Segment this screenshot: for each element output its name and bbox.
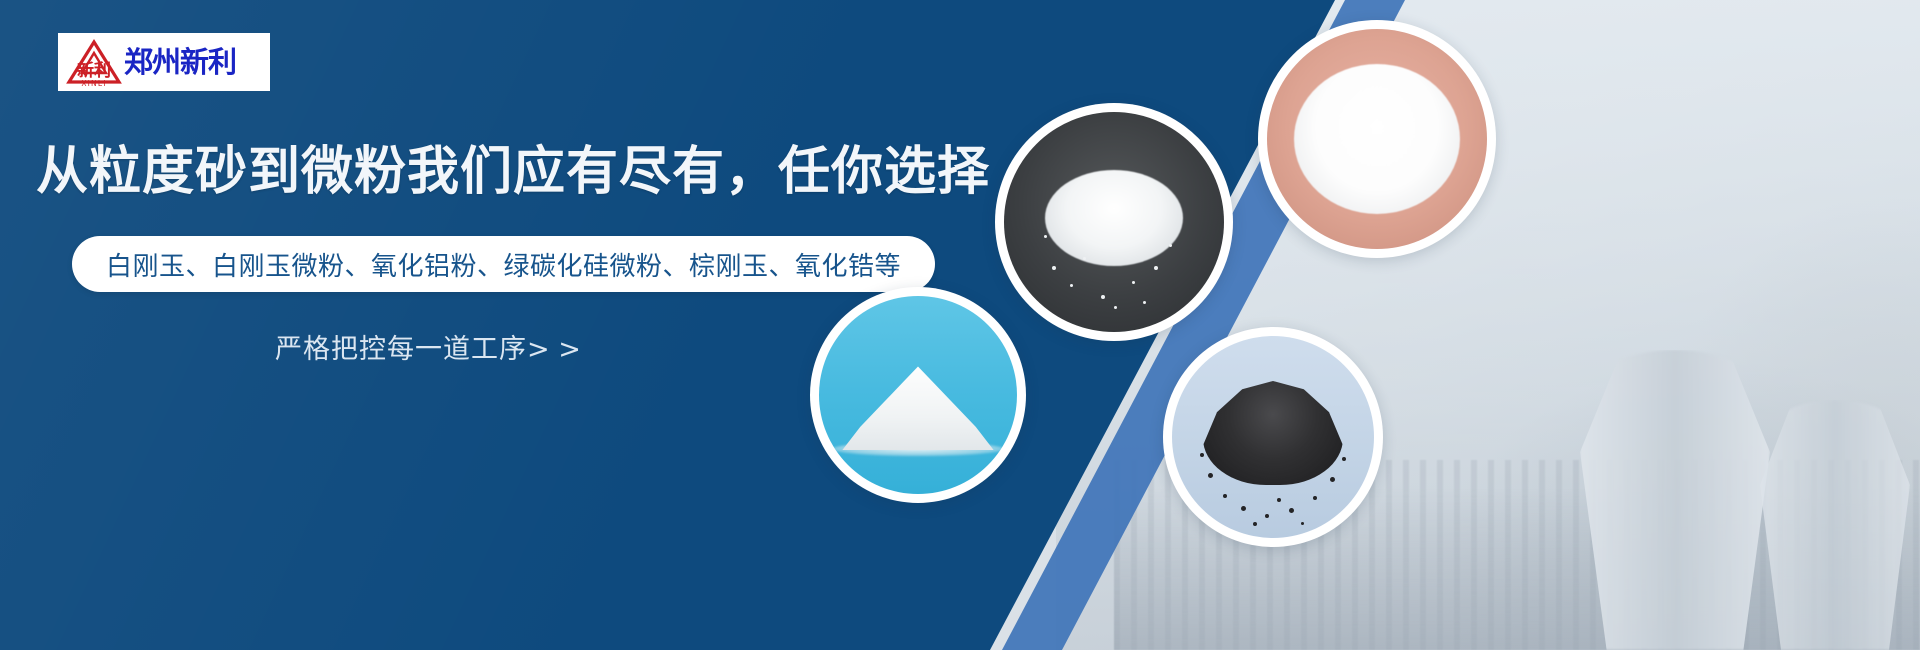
- subtitle[interactable]: 严格把控每一道工序> >: [275, 327, 581, 366]
- product-photo-image: [1004, 112, 1224, 332]
- powder-heap: [1294, 64, 1460, 214]
- product-photo-image: [1267, 29, 1487, 249]
- xinli-triangle-icon: 新利 XINLI: [66, 36, 122, 88]
- subtitle-text: 严格把控每一道工序: [275, 334, 527, 365]
- product-photo-black-grit[interactable]: [1163, 327, 1383, 547]
- cooling-tower-icon: [1760, 400, 1910, 650]
- promo-banner: 新利 XINLI 郑州新利 从粒度砂到微粉我们应有尽有，任你选择 白刚玉、白刚玉…: [0, 0, 1920, 650]
- product-list-pill[interactable]: 白刚玉、白刚玉微粉、氧化铝粉、绿碳化硅微粉、棕刚玉、氧化锆等: [72, 236, 935, 292]
- product-photo-image: [1172, 336, 1374, 538]
- powder-cone: [842, 366, 994, 450]
- company-logo[interactable]: 新利 XINLI 郑州新利: [58, 33, 270, 91]
- headline: 从粒度砂到微粉我们应有尽有，任你选择: [36, 143, 990, 201]
- svg-text:XINLI: XINLI: [81, 79, 106, 88]
- svg-text:新利: 新利: [77, 60, 111, 81]
- product-list-text: 白刚玉、白刚玉微粉、氧化铝粉、绿碳化硅微粉、棕刚玉、氧化锆等: [106, 246, 901, 283]
- product-photo-white-grit[interactable]: [995, 103, 1233, 341]
- cooling-tower-icon: [1580, 350, 1770, 650]
- powder-heap: [1045, 170, 1183, 266]
- logo-wordmark: 郑州新利: [124, 48, 236, 77]
- grit-heap: [1203, 381, 1343, 485]
- product-photo-white-micropowder[interactable]: [1258, 20, 1496, 258]
- chevron-right-icon: > >: [527, 334, 581, 365]
- product-photo-image: [819, 296, 1017, 494]
- product-photo-powder-cone[interactable]: [810, 287, 1026, 503]
